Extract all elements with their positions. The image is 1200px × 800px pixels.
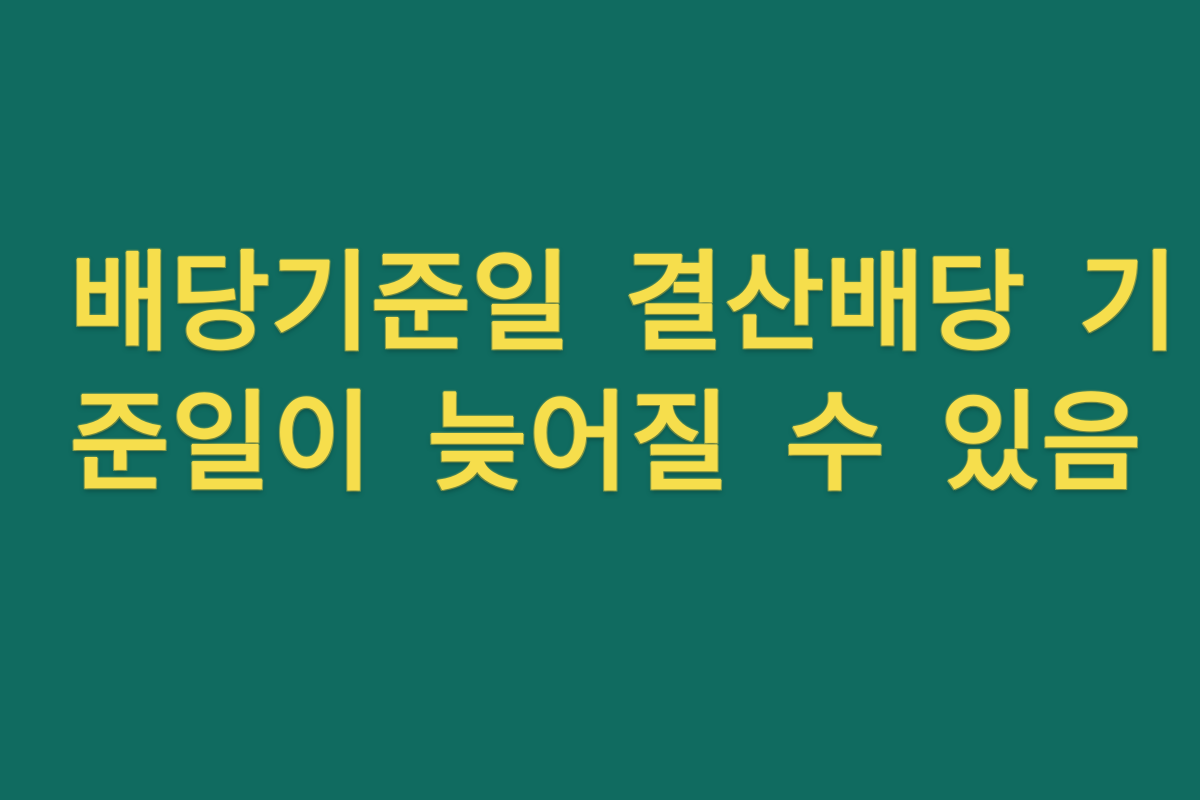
headline-line-2: 준일이 늦어질 수 있음 (70, 374, 1130, 514)
thumbnail-canvas: 배당기준일 결산배당 기 준일이 늦어질 수 있음 (0, 0, 1200, 800)
headline-line-1: 배당기준일 결산배당 기 (70, 234, 1130, 374)
headline-block: 배당기준일 결산배당 기 준일이 늦어질 수 있음 (70, 234, 1130, 514)
